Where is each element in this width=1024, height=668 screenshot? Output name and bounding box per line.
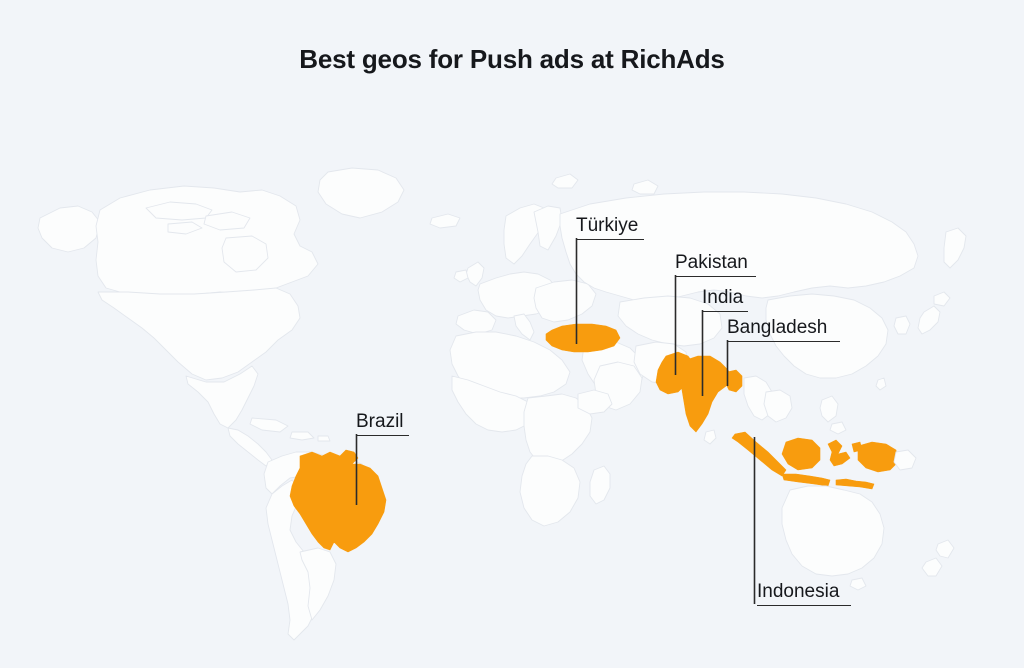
- country-madagascar: [590, 466, 610, 504]
- land-layer: [38, 168, 966, 640]
- country-sri-lanka: [704, 430, 716, 444]
- country-japan-north: [934, 292, 950, 306]
- country-taiwan: [876, 378, 886, 390]
- country-turkiye: [546, 324, 620, 352]
- callout-label-indonesia: Indonesia: [757, 582, 851, 606]
- country-philippines-south: [830, 422, 846, 434]
- region-svalbard: [552, 174, 578, 188]
- region-kamchatka: [944, 228, 966, 268]
- caribbean-cuba: [250, 418, 288, 432]
- country-indonesia-java: [782, 474, 830, 486]
- country-new-zealand-north: [936, 540, 954, 558]
- country-indonesia-sulawesi: [828, 440, 850, 466]
- callout-text-bangladesh: Bangladesh: [727, 317, 827, 338]
- callout-text-turkiye: Türkiye: [576, 215, 638, 236]
- region-southern-africa: [520, 456, 580, 526]
- country-alaska: [38, 206, 100, 252]
- region-indochina: [764, 390, 792, 422]
- country-uk: [466, 262, 484, 286]
- country-indonesia-papua: [858, 442, 898, 472]
- country-tasmania: [850, 578, 866, 590]
- country-australia: [782, 486, 884, 576]
- country-japan: [918, 306, 940, 334]
- world-map: [0, 0, 1024, 668]
- region-horn-of-africa: [578, 390, 612, 414]
- country-russia: [560, 192, 918, 302]
- country-korea: [894, 316, 910, 334]
- callout-text-pakistan: Pakistan: [675, 252, 748, 273]
- region-eastern-europe: [534, 280, 596, 322]
- country-indonesia-lesser-sunda: [836, 479, 874, 489]
- country-papua-new-guinea: [894, 450, 916, 470]
- map-infographic: Best geos for Push ads at RichAds: [0, 0, 1024, 668]
- country-ireland: [454, 270, 468, 282]
- country-usa: [98, 288, 300, 380]
- country-iceland: [430, 214, 460, 228]
- country-philippines: [820, 396, 838, 422]
- country-indonesia-borneo: [782, 438, 820, 470]
- caribbean-hispaniola: [290, 432, 314, 440]
- country-new-zealand-south: [922, 558, 942, 576]
- callout-label-turkiye: Türkiye: [576, 216, 644, 240]
- country-india: [680, 356, 732, 432]
- callout-text-indonesia: Indonesia: [757, 581, 839, 602]
- region-novaya-zemlya: [632, 180, 658, 194]
- country-canada: [96, 186, 318, 296]
- callout-label-india: India: [702, 288, 748, 312]
- callout-label-bangladesh: Bangladesh: [727, 318, 840, 342]
- callout-label-brazil: Brazil: [356, 412, 409, 436]
- callout-text-brazil: Brazil: [356, 411, 404, 432]
- country-indonesia-maluku: [852, 442, 862, 452]
- central-america: [228, 428, 272, 466]
- region-iberia: [456, 310, 496, 334]
- country-finland: [534, 206, 562, 250]
- callout-text-india: India: [702, 287, 743, 308]
- caribbean-pr: [318, 436, 330, 441]
- country-indonesia-sumatra: [732, 432, 786, 476]
- country-brazil: [290, 450, 386, 552]
- country-greenland: [318, 168, 404, 218]
- callout-label-pakistan: Pakistan: [675, 253, 756, 277]
